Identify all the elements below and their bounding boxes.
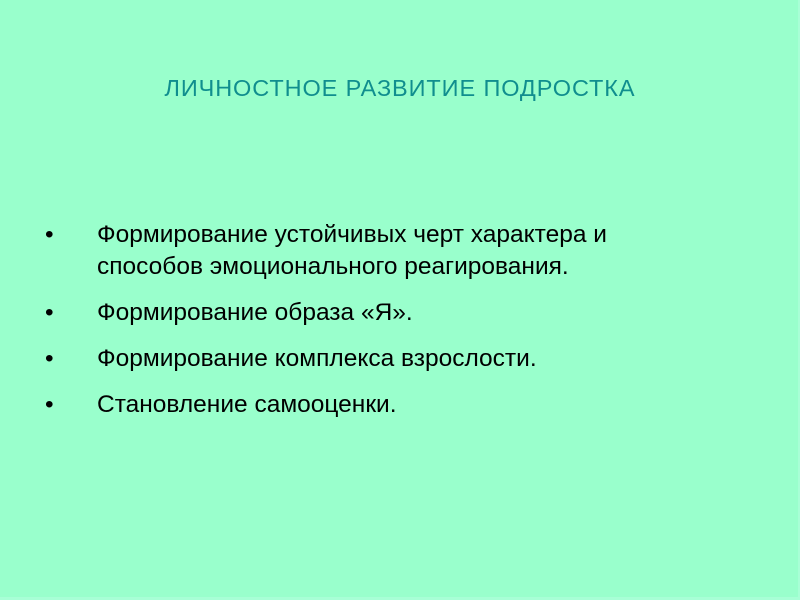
- list-item-text: Становление самооценки.: [97, 389, 690, 421]
- list-item: • Становление самооценки.: [40, 389, 690, 421]
- list-item: • Формирование устойчивых черт характера…: [40, 219, 690, 283]
- slide-title: ЛИЧНОСТНОЕ РАЗВИТИЕ ПОДРОСТКА: [0, 74, 800, 102]
- bullet-list: • Формирование устойчивых черт характера…: [40, 219, 690, 421]
- presentation-slide: ЛИЧНОСТНОЕ РАЗВИТИЕ ПОДРОСТКА • Формиров…: [0, 0, 800, 600]
- bullet-point-icon: •: [45, 297, 59, 329]
- list-item-text: Формирование комплекса взрослости.: [97, 343, 690, 375]
- bullet-point-icon: •: [45, 389, 59, 421]
- list-item-text: Формирование образа «Я».: [97, 297, 690, 329]
- bullet-point-icon: •: [45, 219, 59, 251]
- list-item-text: Формирование устойчивых черт характера и…: [97, 219, 690, 283]
- bullet-point-icon: •: [45, 343, 59, 375]
- list-item: • Формирование образа «Я».: [40, 297, 690, 329]
- list-item: • Формирование комплекса взрослости.: [40, 343, 690, 375]
